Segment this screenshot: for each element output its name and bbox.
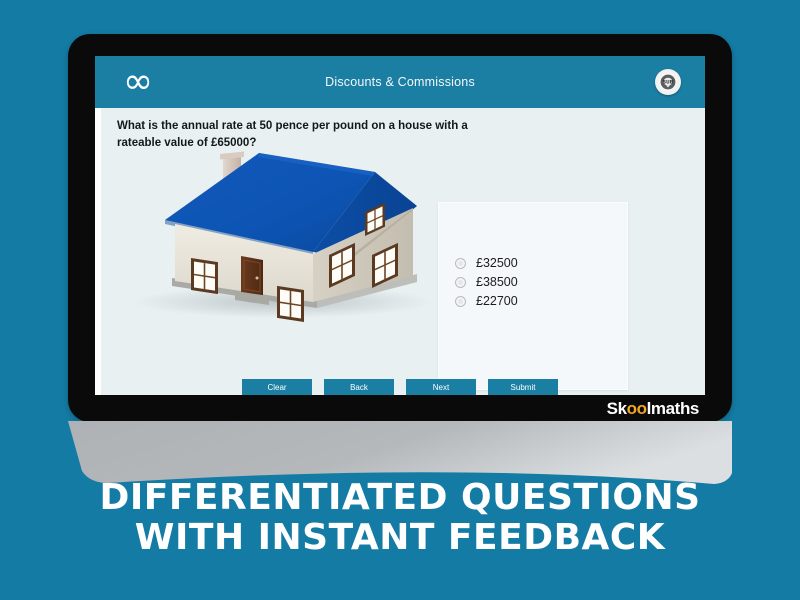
radio-icon[interactable]: [455, 258, 466, 269]
left-rail: [95, 108, 101, 395]
answer-option-1[interactable]: £32500: [455, 256, 518, 270]
radio-icon[interactable]: [455, 296, 466, 307]
monitor-frame: ∞ Discounts & Commissions SUB What is th…: [68, 34, 732, 422]
app-header: ∞ Discounts & Commissions SUB: [95, 56, 705, 108]
house-illustration: [117, 150, 477, 325]
submit-button[interactable]: Submit: [488, 379, 558, 395]
page-title: Discounts & Commissions: [95, 56, 705, 108]
radio-icon[interactable]: [455, 277, 466, 288]
mascot-badge-icon[interactable]: SUB: [655, 69, 681, 95]
question-text: What is the annual rate at 50 pence per …: [117, 118, 477, 151]
question-content: What is the annual rate at 50 pence per …: [95, 108, 705, 395]
answer-option-2[interactable]: £38500: [455, 275, 518, 289]
logo-accent-oo: oo: [627, 399, 647, 418]
back-button[interactable]: Back: [324, 379, 394, 395]
logo-text-part2: lmaths: [647, 399, 699, 418]
answer-option-label: £22700: [476, 294, 518, 308]
skoolmaths-logo: Skoolmaths: [607, 400, 699, 417]
answer-option-3[interactable]: £22700: [455, 294, 518, 308]
answer-options-panel: £32500 £38500 £22700: [438, 202, 628, 390]
caption-line-1: DIFFERENTIATED QUESTIONS: [0, 478, 800, 518]
action-toolbar: Clear Back Next Submit: [95, 379, 705, 395]
caption-line-2: WITH INSTANT FEEDBACK: [0, 518, 800, 558]
next-button[interactable]: Next: [406, 379, 476, 395]
clear-button[interactable]: Clear: [242, 379, 312, 395]
answer-option-label: £38500: [476, 275, 518, 289]
caption: DIFFERENTIATED QUESTIONS WITH INSTANT FE…: [0, 478, 800, 559]
screen: ∞ Discounts & Commissions SUB What is th…: [95, 56, 705, 395]
svg-text:SUB: SUB: [663, 79, 674, 85]
brand-bar: Skoolmaths: [95, 395, 705, 422]
logo-text-part1: Sk: [607, 399, 627, 418]
answer-option-label: £32500: [476, 256, 518, 270]
